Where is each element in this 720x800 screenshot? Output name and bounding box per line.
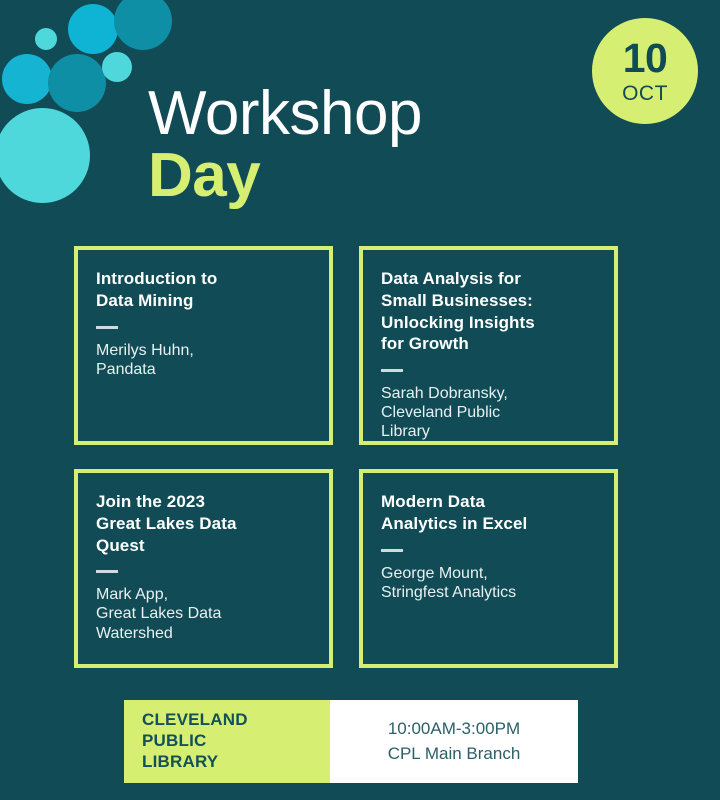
session-speaker: George Mount, Stringfest Analytics <box>381 564 596 602</box>
bubble-large-dark-top-right <box>114 0 172 50</box>
session-speaker: Mark App, Great Lakes Data Watershed <box>96 585 311 643</box>
date-badge-month: OCT <box>622 83 668 104</box>
session-title: Modern Data Analytics in Excel <box>381 491 596 535</box>
page-title-line-1: Workshop <box>148 84 422 144</box>
bubble-small-light-right <box>102 52 132 82</box>
organization-name: CLEVELAND PUBLIC LIBRARY <box>124 700 330 783</box>
session-speaker: Sarah Dobransky, Cleveland Public Librar… <box>381 384 596 442</box>
session-card: Introduction to Data Mining Merilys Huhn… <box>74 246 333 445</box>
session-card-grid: Introduction to Data Mining Merilys Huhn… <box>74 246 618 668</box>
session-divider <box>96 326 118 329</box>
bubble-medium-bright-left <box>2 54 52 104</box>
session-divider <box>381 369 403 372</box>
session-card: Data Analysis for Small Businesses: Unlo… <box>359 246 618 445</box>
session-speaker: Merilys Huhn, Pandata <box>96 341 311 379</box>
session-title: Introduction to Data Mining <box>96 268 311 312</box>
bubble-large-teal-center <box>48 54 106 112</box>
session-title: Join the 2023 Great Lakes Data Quest <box>96 491 311 556</box>
session-card: Join the 2023 Great Lakes Data Quest Mar… <box>74 469 333 668</box>
bubble-small-light-top <box>35 28 57 50</box>
session-title: Data Analysis for Small Businesses: Unlo… <box>381 268 596 355</box>
event-time: 10:00AM-3:00PM <box>388 717 520 742</box>
event-location: CPL Main Branch <box>388 742 521 767</box>
session-card: Modern Data Analytics in Excel George Mo… <box>359 469 618 668</box>
session-divider <box>96 570 118 573</box>
date-badge: 10 OCT <box>592 18 698 124</box>
footer-bar: CLEVELAND PUBLIC LIBRARY 10:00AM-3:00PM … <box>124 700 578 783</box>
session-divider <box>381 549 403 552</box>
bubble-xlarge-light-bottom <box>0 108 90 203</box>
date-badge-day: 10 <box>623 38 668 79</box>
page-title-line-2: Day <box>148 146 422 206</box>
page-title: Workshop Day <box>148 84 422 205</box>
event-details: 10:00AM-3:00PM CPL Main Branch <box>330 700 578 783</box>
bubble-medium-bright-top <box>68 4 118 54</box>
workshop-day-poster: 10 OCT Workshop Day Introduction to Data… <box>0 0 720 800</box>
